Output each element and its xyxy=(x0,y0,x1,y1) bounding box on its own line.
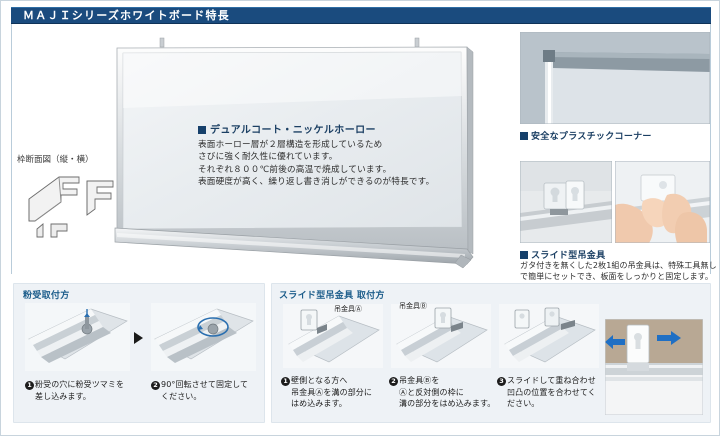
bullet-square-icon xyxy=(520,251,528,259)
main-feature-line-1: 表面ホーロー層が２層構造を形成しているため xyxy=(198,139,498,151)
bullet-square-icon xyxy=(520,132,528,140)
main-feature-line-3: それぞれ８００℃前後の高温で焼成しています。 xyxy=(198,164,498,176)
chalk-tray-step-1-text: 1粉受の穴に粉受ツマミを 差し込みます。 xyxy=(25,379,143,402)
left-divider-rule xyxy=(11,24,12,274)
tray-knob-rotate-image xyxy=(151,303,256,371)
chalk-tray-step1-photo xyxy=(25,303,130,371)
hanger-step-3-text: 3スライドして重ね合わせ 凹凸の位置を合わせてく ださい。 xyxy=(497,375,607,410)
chalk-tray-step2-photo xyxy=(151,303,256,371)
hanger-step-1-text: 1壁側となる方へ 吊金具Ⓐを溝の部分に はめ込みます。 xyxy=(281,375,387,410)
right-section-1-heading: 安全なプラスチックコーナー xyxy=(520,129,652,142)
page-title: ＭＡＪＩシリーズホワイトボード特長 xyxy=(23,8,230,23)
step-number-2: 2 xyxy=(151,381,160,390)
plastic-corner-photo xyxy=(520,32,710,124)
hanger-step3-photo xyxy=(499,304,599,368)
right-section-2-body: ガタ付きを無くした2枚1組の吊金具は、特殊工具無しで簡単にセットでき、板面をしっ… xyxy=(520,260,718,282)
chalk-tray-panel-title: 粉受取付方 xyxy=(23,288,70,301)
hanger-step1-photo xyxy=(283,304,383,368)
hanger-b-insert-image xyxy=(391,304,491,368)
callout-hanger-a: 吊金具Ⓐ xyxy=(334,304,362,314)
step-number-1: 1 xyxy=(25,381,34,390)
corner-closeup-image xyxy=(520,32,710,124)
right-divider-rule xyxy=(710,24,711,274)
main-feature-heading: デュアルコート・ニッケルホーロー xyxy=(198,121,498,136)
page-root: ＭＡＪＩシリーズホワイトボード特長 枠断面図（縦・横） xyxy=(0,0,720,436)
hand-install-photo xyxy=(615,161,710,243)
callout-hanger-b: 吊金具Ⓑ xyxy=(399,301,427,311)
step-number-2: 2 xyxy=(389,377,398,386)
hand-installing-bracket-image xyxy=(615,161,710,243)
hanger-step-2-text: 2吊金具Ⓑを Ⓐと反対側の枠に 溝の部分をはめ込みます。 xyxy=(389,375,501,410)
hanger-a-insert-image xyxy=(283,304,383,368)
step-number-3: 3 xyxy=(497,377,506,386)
hanger-final-photo xyxy=(605,319,703,415)
hanger-slide-overlap-image xyxy=(499,304,599,368)
main-feature-line-4: 表面硬度が高く、繰り返し書き消しができるのが特長です。 xyxy=(198,176,498,188)
step-number-1: 1 xyxy=(281,377,290,386)
hanger-aligned-image xyxy=(605,319,703,415)
tray-knob-insert-image xyxy=(25,303,130,371)
hanger-on-rail-image xyxy=(520,161,612,243)
hanger-bracket-photo xyxy=(520,161,612,243)
slide-hanger-panel-title: スライド型吊金具 取付方 xyxy=(279,288,385,301)
cross-section-label: 枠断面図（縦・横） xyxy=(17,153,94,165)
chalk-tray-step-2-text: 290°回転させて固定して ください。 xyxy=(151,379,261,402)
main-feature-text: デュアルコート・ニッケルホーロー 表面ホーロー層が２層構造を形成しているため さ… xyxy=(198,121,498,189)
hanger-step2-photo xyxy=(391,304,491,368)
bullet-square-icon xyxy=(198,126,206,134)
main-feature-line-2: さびに強く耐久性に優れています。 xyxy=(198,151,498,163)
step-arrow-icon xyxy=(134,332,143,344)
